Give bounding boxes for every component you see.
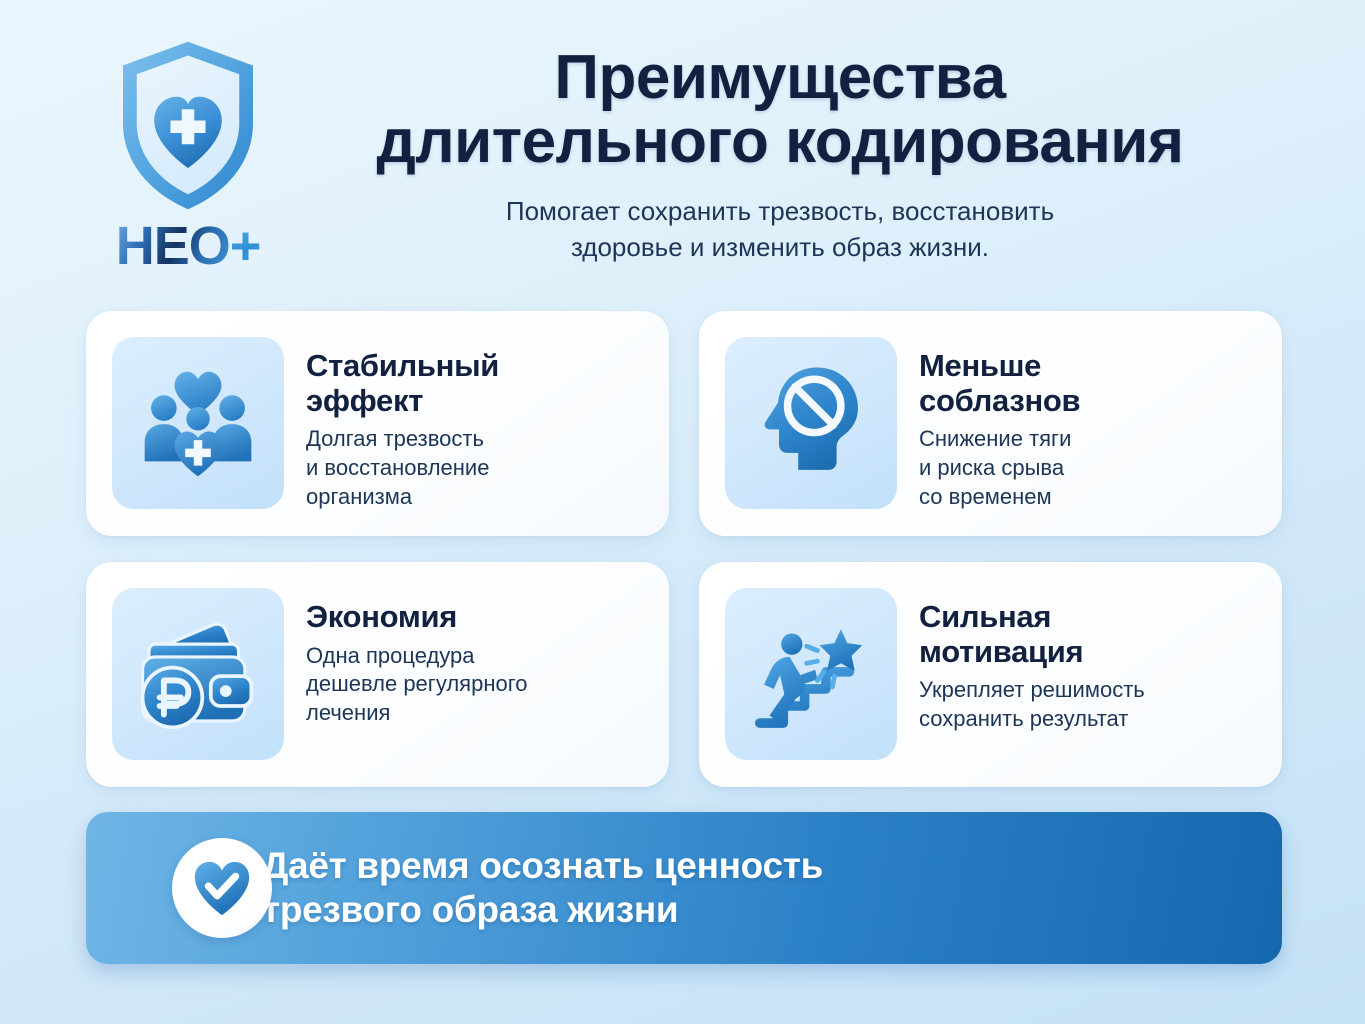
card-body: Сильная мотивация Укрепляет решимость со… bbox=[897, 588, 1145, 734]
icon-tile bbox=[725, 337, 897, 509]
card-desc-line-3: со временем bbox=[919, 484, 1052, 509]
benefit-card-strong-motivation: Сильная мотивация Укрепляет решимость со… bbox=[699, 562, 1282, 787]
card-body: Экономия Одна процедура дешевле регулярн… bbox=[284, 588, 527, 728]
card-desc-line-1: Одна процедура bbox=[306, 643, 475, 668]
icon-tile bbox=[725, 588, 897, 760]
benefit-card-stable-effect: Стабильный эффект Долгая трезвость и вос… bbox=[86, 311, 669, 536]
page-title-line-1: Преимущества bbox=[554, 43, 1005, 112]
card-title: Сильная мотивация bbox=[919, 600, 1145, 669]
page-subtitle: Помогает сохранить трезвость, восстанови… bbox=[280, 194, 1280, 266]
card-description: Снижение тяги и риска срыва со временем bbox=[919, 425, 1080, 511]
header: HEO+ Преимущества длительного кодировани… bbox=[0, 0, 1365, 300]
page-subtitle-line-1: Помогает сохранить трезвость, восстанови… bbox=[280, 194, 1280, 230]
heart-check-icon bbox=[191, 857, 253, 919]
card-body: Стабильный эффект Долгая трезвость и вос… bbox=[284, 337, 499, 511]
card-title-line-2: соблазнов bbox=[919, 383, 1080, 418]
page-subtitle-line-2: здоровье и изменить образ жизни. bbox=[280, 230, 1280, 266]
card-title-line-1: Сильная bbox=[919, 599, 1051, 634]
card-title-line-1: Экономия bbox=[306, 599, 457, 634]
banner-text-line-2: трезвого образа жизни bbox=[262, 888, 823, 932]
card-desc-line-1: Укрепляет решимость bbox=[919, 677, 1145, 702]
banner-text-line-1: Даёт время осознать ценность bbox=[262, 844, 823, 888]
brand-wordmark-text: HEO bbox=[116, 216, 230, 276]
card-desc-line-3: организма bbox=[306, 484, 412, 509]
benefit-card-fewer-temptations: Меньше соблазнов Снижение тяги и риска с… bbox=[699, 311, 1282, 536]
family-heart-plus-icon bbox=[134, 359, 262, 487]
footer-banner: Даёт время осознать ценность трезвого об… bbox=[86, 812, 1282, 964]
card-description: Одна процедура дешевле регулярного лечен… bbox=[306, 642, 527, 728]
card-title: Меньше соблазнов bbox=[919, 349, 1080, 418]
infographic-poster: HEO+ Преимущества длительного кодировани… bbox=[0, 0, 1365, 1024]
brand-wordmark: HEO+ bbox=[116, 219, 261, 273]
card-description: Долгая трезвость и восстановление органи… bbox=[306, 425, 499, 511]
card-title-line-1: Стабильный bbox=[306, 348, 499, 383]
card-desc-line-2: и риска срыва bbox=[919, 455, 1064, 480]
card-desc-line-3: лечения bbox=[306, 700, 390, 725]
brand-logo: HEO+ bbox=[78, 38, 298, 273]
benefits-grid: Стабильный эффект Долгая трезвость и вос… bbox=[86, 311, 1282, 787]
benefit-card-savings: Экономия Одна процедура дешевле регулярн… bbox=[86, 562, 669, 787]
card-desc-line-1: Снижение тяги bbox=[919, 426, 1071, 451]
brand-wordmark-plus: + bbox=[230, 216, 261, 276]
card-desc-line-2: сохранить результат bbox=[919, 706, 1128, 731]
card-title-line-2: мотивация bbox=[919, 634, 1083, 669]
card-title-line-2: эффект bbox=[306, 383, 423, 418]
card-title: Экономия bbox=[306, 600, 527, 635]
head-no-entry-icon bbox=[747, 359, 875, 487]
card-desc-line-1: Долгая трезвость bbox=[306, 426, 484, 451]
icon-tile bbox=[112, 588, 284, 760]
card-desc-line-2: дешевле регулярного bbox=[306, 671, 527, 696]
card-title-line-1: Меньше bbox=[919, 348, 1041, 383]
card-title: Стабильный эффект bbox=[306, 349, 499, 418]
page-title-line-2: длительного кодирования bbox=[280, 110, 1280, 174]
banner-badge bbox=[172, 838, 272, 938]
header-text-block: Преимущества длительного кодирования Пом… bbox=[280, 46, 1280, 265]
shield-heart-plus-icon bbox=[113, 38, 263, 213]
stairs-star-person-icon bbox=[747, 610, 875, 738]
card-desc-line-2: и восстановление bbox=[306, 455, 489, 480]
wallet-ruble-icon bbox=[134, 610, 262, 738]
page-title: Преимущества длительного кодирования bbox=[280, 46, 1280, 174]
card-description: Укрепляет решимость сохранить результат bbox=[919, 676, 1145, 733]
banner-text: Даёт время осознать ценность трезвого об… bbox=[262, 844, 823, 931]
card-body: Меньше соблазнов Снижение тяги и риска с… bbox=[897, 337, 1080, 511]
icon-tile bbox=[112, 337, 284, 509]
